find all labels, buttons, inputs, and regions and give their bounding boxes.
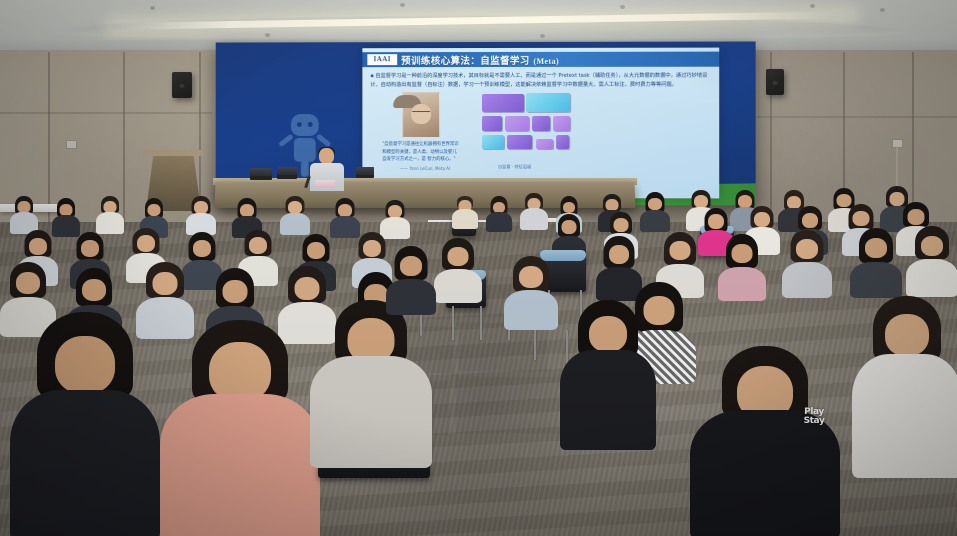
slide-title-en: (Meta) [533,57,559,66]
person-head [400,256,422,276]
person-torso [280,213,310,235]
diagram-block [505,116,529,131]
diagram-block [532,116,550,131]
person-head [363,240,381,257]
ceiling-sprinkler [880,8,885,12]
person-head [307,242,325,259]
audience-member [186,196,216,232]
audience-member [520,193,548,227]
person-head [853,211,870,226]
person-head [148,204,161,216]
audience-member [486,196,512,228]
person-torso [560,350,656,450]
person-head [670,241,691,260]
audience-member [160,320,320,536]
diagram-block [482,94,524,112]
audience-member [280,196,310,232]
audience-member [386,246,436,310]
ceiling-sprinkler [810,4,815,8]
audience-member [906,226,957,294]
audience-member [52,198,80,232]
person-head [81,240,99,257]
person-torso [718,267,766,301]
audience-member [452,196,478,226]
audience-member [640,192,670,228]
diagram-block [526,93,570,112]
slide-body-text: ▪ 自监督学习是一种前沿的深度学习技术，其目标就是不需要人工、而是通过一个 Pr… [370,72,711,90]
slide-quote-source: —— Yann LeCun, Meta AI [400,166,450,171]
person-head [153,272,178,295]
ceiling-sprinkler [400,3,405,7]
person-head [295,277,320,300]
person-head [209,342,271,402]
person-torso [850,262,902,298]
person-head [223,280,248,303]
laptop[interactable] [250,168,272,180]
person-torso [520,208,548,230]
audience-member [560,300,656,450]
name-card [315,180,335,188]
diagram-block [482,135,504,149]
person-head [562,220,577,234]
diagram-block [553,116,570,131]
person-head [519,266,543,288]
audience-member [10,196,38,230]
person-torso [906,259,957,297]
ceiling-vent [265,33,270,37]
laptop[interactable] [356,167,374,178]
slide-diagram: 自监督 · 特征层级 [480,92,600,172]
person-head [908,209,925,225]
person-head [921,236,943,256]
audience-member [232,198,262,234]
tshirt-text-line2: Stay [804,416,825,426]
person-torso [452,209,478,229]
diagram-block [536,139,553,149]
person-head [249,237,267,254]
audience-member [330,198,360,234]
audience-member [96,196,124,230]
person-head [16,272,40,294]
laptop[interactable] [277,167,297,179]
audience-member [850,228,902,294]
person-torso [96,212,124,234]
person-head [563,202,575,213]
chair-leg [480,306,482,340]
person-torso [486,212,512,232]
presenter-head [319,148,334,164]
audience-member [690,346,840,536]
person-torso [10,390,160,536]
person-torso [504,290,558,330]
person-head [796,239,818,259]
audience-member [782,230,832,294]
person-head [732,244,753,263]
person-head [55,336,115,394]
person-torso [160,394,320,536]
lectern-top [143,150,204,156]
person-torso [690,410,840,536]
slide-body-copy: 自监督学习是一种前沿的深度学习技术，其目标就是不需要人工、而是通过一个 Pret… [370,73,707,88]
audience-member [852,296,957,476]
lecture-hall-photo: IAAI 预训练核心算法：自监督学习 (Meta) ▪ 自监督学习是一种前沿的深… [0,0,957,536]
diagram-caption: 自监督 · 特征层级 [498,164,531,170]
person-head [589,316,627,352]
person-torso [782,262,832,298]
person-torso [310,356,432,468]
slide-title: 预训练核心算法：自监督学习 (Meta) [401,53,559,67]
person-head [885,314,929,356]
person-head [82,279,106,301]
person-head [448,247,469,266]
audience-member [10,312,160,536]
chair-leg [452,306,454,340]
diagram-block [556,135,569,149]
tshirt-graphic: Play Stay [786,408,842,425]
person-torso [434,269,482,303]
presentation-slide: IAAI 预训练核心算法：自监督学习 (Meta) ▪ 自监督学习是一种前沿的深… [362,48,719,199]
person-head [614,218,629,232]
person-head [708,214,724,229]
ceiling-vent [540,34,545,38]
audience-member [380,200,410,236]
audience-member [718,234,766,296]
diagram-block [482,116,502,131]
slide-quote: "自监督学习是通往让机器拥有世界常识和模型的关键，是人类、动物以及婴儿自发学习方… [382,141,460,164]
ceiling-sprinkler [150,6,155,10]
person-torso [640,210,670,232]
audience-member [504,256,558,326]
audience-member [140,198,168,232]
slide-title-cn: 预训练核心算法：自监督学习 [401,56,530,67]
audience-member [434,238,482,300]
slide-logo: IAAI [367,54,397,65]
audience-member [310,300,432,470]
person-head [29,238,47,255]
person-head [754,212,770,227]
person-head [193,240,211,257]
diagram-block [507,135,532,149]
portrait-photo [402,92,440,138]
person-head [802,213,818,228]
person-head [865,238,887,258]
person-torso [386,279,436,315]
portrait-glasses [412,111,430,116]
person-head [609,245,629,264]
person-head [137,235,155,252]
person-head [648,198,662,210]
ceiling-sprinkler [620,5,625,9]
person-torso [852,354,957,478]
